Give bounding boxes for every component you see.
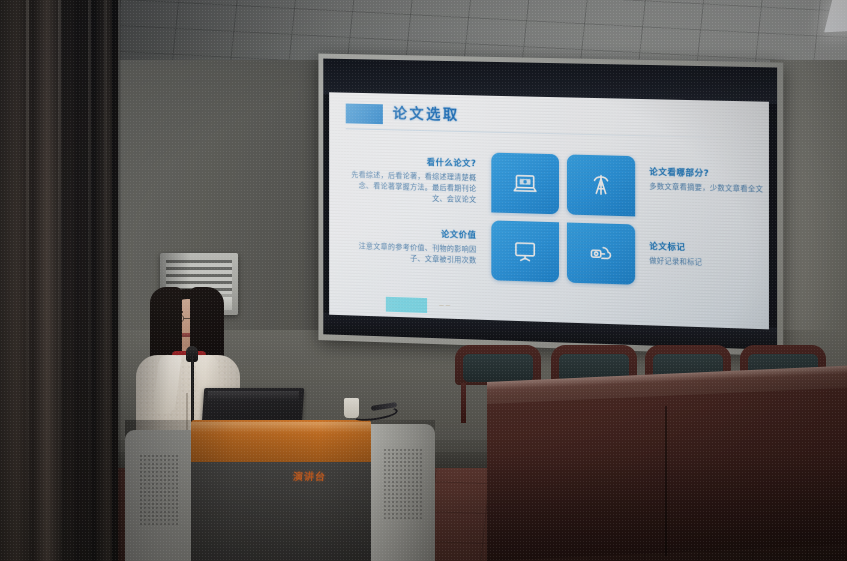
footer-accent-chip <box>386 297 427 313</box>
text-block-paper-value: 论文价值 注意文章的参考价值、刊物的影响因子、文章被引用次数 <box>351 225 477 266</box>
tile-laptop <box>491 153 559 215</box>
chair-cushion <box>463 354 533 382</box>
table-shading <box>487 382 847 561</box>
block-heading: 论文价值 <box>351 225 477 241</box>
cloud-link-icon <box>588 240 614 267</box>
slide-title-row: 论文选取 <box>346 102 749 141</box>
chair-leg <box>461 383 466 423</box>
block-heading: 看什么论文? <box>351 154 477 169</box>
curtain-fold <box>58 0 61 561</box>
block-heading: 论文看哪部分? <box>649 166 769 181</box>
block-body: 做好记录和标记 <box>649 255 769 270</box>
block-body: 注意文章的参考价值、刊物的影响因子、文章被引用次数 <box>351 240 477 266</box>
broadcast-tower-icon <box>588 172 614 199</box>
podium: 演讲台 <box>125 420 435 561</box>
text-block-paper-marking: 论文标记 做好记录和标记 <box>649 240 769 270</box>
text-block-which-part: 论文看哪部分? 多数文章看摘要，少数文章看全文 <box>649 166 769 196</box>
room-photo: 论文选取 看什么论文? 先看综述，后看论著，看综述理清楚概念、看论著掌握方法。最… <box>0 0 847 561</box>
laptop <box>202 388 305 424</box>
slide-title: 论文选取 <box>393 103 460 125</box>
screen-surface: 论文选取 看什么论文? 先看综述，后看论著，看综述理清楚概念、看论著掌握方法。最… <box>323 59 777 350</box>
icon-tile-grid <box>491 153 635 287</box>
title-accent-chip <box>346 104 383 125</box>
curtain-edge-shadow <box>112 0 122 561</box>
laptop-icon <box>512 170 538 197</box>
footer-note: —— <box>439 302 452 308</box>
title-divider <box>346 128 749 138</box>
curtain <box>0 0 118 561</box>
podium-shading <box>125 420 435 561</box>
monitor-icon <box>512 238 538 265</box>
presentation-slide: 论文选取 看什么论文? 先看综述，后看论著，看综述理清楚概念、看论著掌握方法。最… <box>329 92 769 329</box>
block-body: 多数文章看摘要，少数文章看全文 <box>649 181 769 196</box>
tile-cloud <box>567 223 635 285</box>
curtain-fold <box>104 0 107 561</box>
projection-screen: 论文选取 看什么论文? 先看综述，后看论著，看综述理清楚概念、看论著掌握方法。最… <box>318 54 783 357</box>
block-heading: 论文标记 <box>649 240 769 256</box>
laptop-screen-highlight <box>207 391 299 401</box>
tile-tower <box>567 154 635 216</box>
block-body: 先看综述，后看论著，看综述理清楚概念、看论著掌握方法。最后看期刊论文、会议论文 <box>351 169 477 206</box>
tile-monitor <box>491 220 559 282</box>
conference-table <box>487 382 847 561</box>
text-block-what-papers: 看什么论文? 先看综述，后看论著，看综述理清楚概念、看论著掌握方法。最后看期刊论… <box>351 154 477 205</box>
curtain-fold <box>26 0 29 561</box>
curtain-fold <box>88 0 91 561</box>
